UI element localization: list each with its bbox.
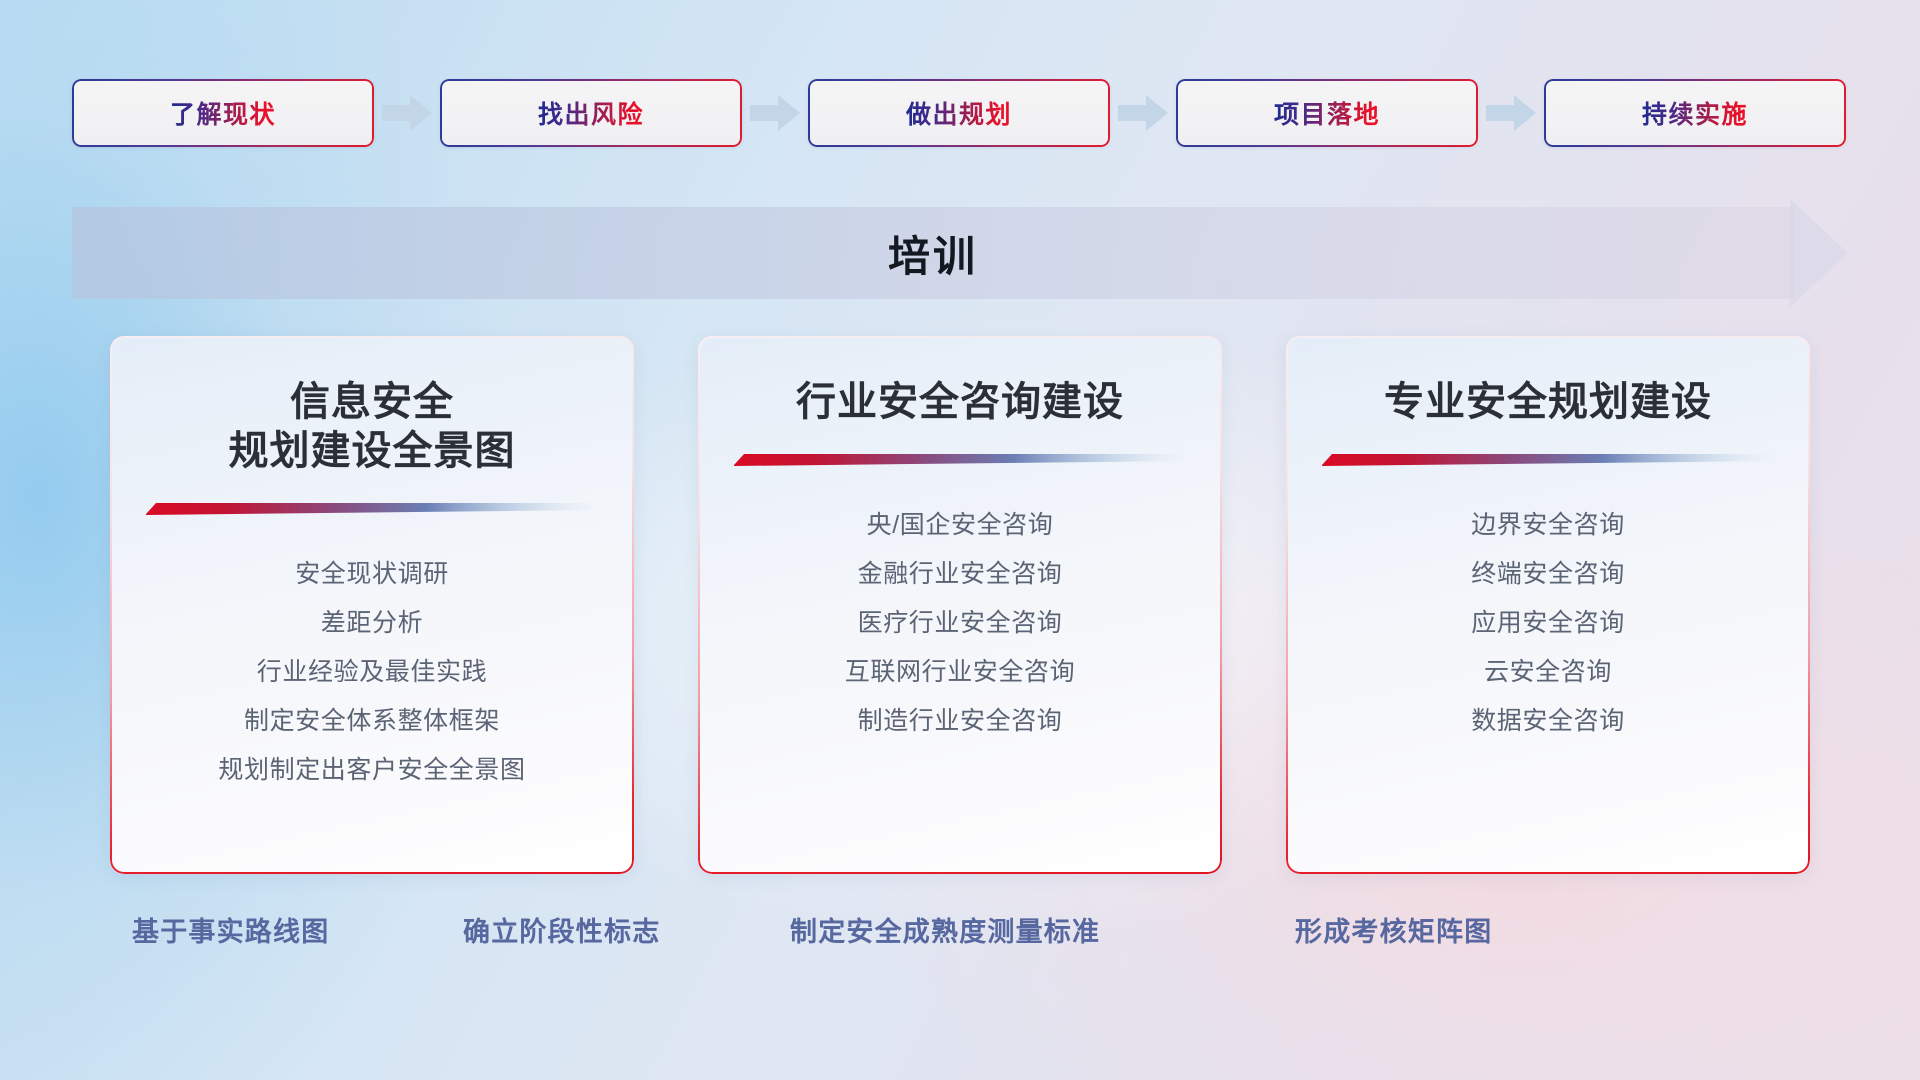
list-item: 差距分析 [138, 599, 606, 648]
cards-row: 信息安全 规划建设全景图 [110, 336, 1810, 874]
banner-arrow-tip-icon [1790, 199, 1848, 307]
list-item: 边界安全咨询 [1314, 501, 1782, 550]
card-professional-security-planning[interactable]: 专业安全规划建设 [1286, 336, 1810, 874]
card-divider [146, 502, 598, 516]
caption-4: 形成考核矩阵图 [1295, 910, 1492, 949]
card-item-list: 央/国企安全咨询 金融行业安全咨询 医疗行业安全咨询 互联网行业安全咨询 制造行… [726, 501, 1194, 746]
list-item: 行业经验及最佳实践 [138, 648, 606, 697]
list-item: 制定安全体系整体框架 [138, 697, 606, 746]
right-arrow-icon [374, 92, 440, 134]
flow-step-2[interactable]: 找出风险 [440, 79, 742, 147]
list-item: 金融行业安全咨询 [726, 550, 1194, 599]
card-information-security-blueprint[interactable]: 信息安全 规划建设全景图 [110, 336, 634, 874]
training-banner: 培训 [72, 207, 1848, 299]
right-arrow-icon [742, 92, 808, 134]
list-item: 央/国企安全咨询 [726, 501, 1194, 550]
process-flow-row: 了解现状 找出风险 做出规划 项目落地 [72, 78, 1848, 148]
flow-step-4[interactable]: 项目落地 [1176, 79, 1478, 147]
right-arrow-icon [1478, 92, 1544, 134]
caption-3: 制定安全成熟度测量标准 [790, 910, 1100, 949]
flow-step-label: 找出风险 [538, 95, 644, 131]
list-item: 制造行业安全咨询 [726, 697, 1194, 746]
caption-2: 确立阶段性标志 [463, 910, 660, 949]
flow-step-5[interactable]: 持续实施 [1544, 79, 1846, 147]
card-title: 信息安全 规划建设全景图 [229, 378, 516, 476]
list-item: 数据安全咨询 [1314, 697, 1782, 746]
card-item-list: 安全现状调研 差距分析 行业经验及最佳实践 制定安全体系整体框架 规划制定出客户… [138, 550, 606, 795]
infographic-root: 了解现状 找出风险 做出规划 项目落地 [0, 0, 1920, 1080]
list-item: 安全现状调研 [138, 550, 606, 599]
card-divider [734, 453, 1186, 467]
card-divider [1322, 453, 1774, 467]
list-item: 应用安全咨询 [1314, 599, 1782, 648]
banner-title: 培训 [72, 207, 1794, 299]
list-item: 规划制定出客户安全全景图 [138, 746, 606, 795]
list-item: 云安全咨询 [1314, 648, 1782, 697]
list-item: 终端安全咨询 [1314, 550, 1782, 599]
card-title: 专业安全规划建设 [1384, 378, 1712, 427]
card-item-list: 边界安全咨询 终端安全咨询 应用安全咨询 云安全咨询 数据安全咨询 [1314, 501, 1782, 746]
flow-step-label: 持续实施 [1642, 95, 1748, 131]
card-title: 行业安全咨询建设 [796, 378, 1124, 427]
right-arrow-icon [1110, 92, 1176, 134]
list-item: 互联网行业安全咨询 [726, 648, 1194, 697]
flow-step-label: 了解现状 [170, 95, 276, 131]
flow-step-label: 项目落地 [1274, 95, 1380, 131]
captions-row: 基于事实路线图 确立阶段性标志 制定安全成熟度测量标准 形成考核矩阵图 [0, 910, 1920, 966]
list-item: 医疗行业安全咨询 [726, 599, 1194, 648]
flow-step-label: 做出规划 [906, 95, 1012, 131]
flow-step-1[interactable]: 了解现状 [72, 79, 374, 147]
card-industry-security-consulting[interactable]: 行业安全咨询建设 [698, 336, 1222, 874]
flow-step-3[interactable]: 做出规划 [808, 79, 1110, 147]
caption-1: 基于事实路线图 [132, 910, 329, 949]
